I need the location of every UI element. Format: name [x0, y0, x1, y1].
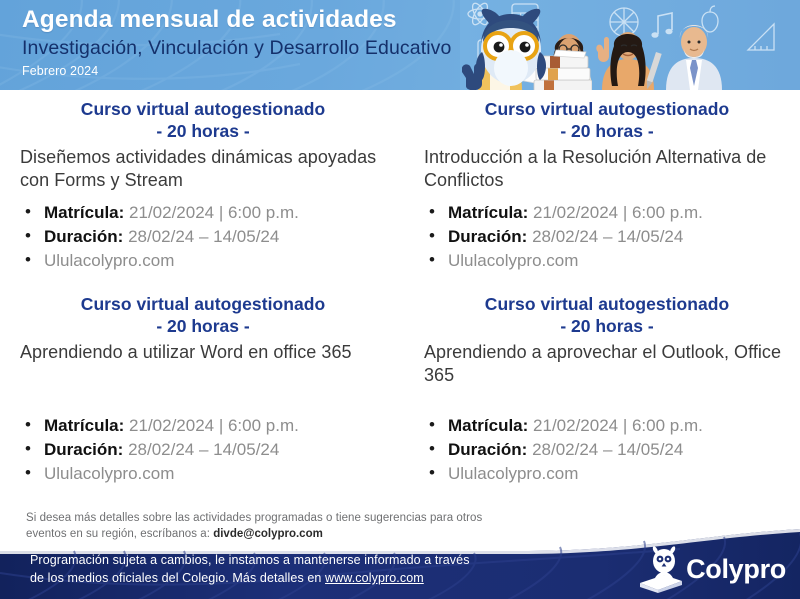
- detail-label: Matrícula:: [448, 416, 528, 435]
- course-site-link[interactable]: Ululacolypro.com: [448, 251, 578, 270]
- footer-line-1: Programación sujeta a cambios, le instam…: [30, 553, 470, 567]
- course-heading: Curso virtual autogestionado: [412, 98, 800, 120]
- course-hours: - 20 horas -: [412, 120, 800, 142]
- footer-message: Programación sujeta a cambios, le instam…: [30, 551, 590, 587]
- page-subtitle: Investigación, Vinculación y Desarrollo …: [22, 35, 451, 62]
- detail-value: 21/02/2024 | 6:00 p.m.: [533, 416, 703, 435]
- course-description: Introducción a la Resolución Alternativa…: [412, 146, 800, 191]
- page-date: Febrero 2024: [22, 62, 451, 81]
- course-site-link[interactable]: Ululacolypro.com: [44, 464, 174, 483]
- page-title: Agenda mensual de actividades: [22, 5, 451, 35]
- course-card: Curso virtual autogestionado - 20 horas …: [412, 98, 800, 273]
- course-hours: - 20 horas -: [8, 315, 398, 337]
- course-heading: Curso virtual autogestionado: [8, 98, 398, 120]
- detail-label: Matrícula:: [44, 416, 124, 435]
- detail-value: 28/02/24 – 14/05/24: [128, 227, 279, 246]
- course-grid: Curso virtual autogestionado - 20 horas …: [0, 90, 800, 500]
- list-item: Duración: 28/02/24 – 14/05/24: [426, 225, 800, 249]
- course-card: Curso virtual autogestionado - 20 horas …: [8, 98, 398, 273]
- brand-name: Colypro: [686, 554, 786, 584]
- list-item[interactable]: Ululacolypro.com: [426, 249, 800, 273]
- list-item: Duración: 28/02/24 – 14/05/24: [22, 438, 398, 462]
- slide-canvas: Agenda mensual de actividades Investigac…: [0, 0, 800, 599]
- course-heading: Curso virtual autogestionado: [412, 293, 800, 315]
- course-site-link[interactable]: Ululacolypro.com: [448, 464, 578, 483]
- list-item: Matrícula: 21/02/2024 | 6:00 p.m.: [22, 201, 398, 225]
- detail-value: 28/02/24 – 14/05/24: [532, 227, 683, 246]
- brand-logo: Colypro: [638, 545, 786, 593]
- detail-label: Matrícula:: [448, 203, 528, 222]
- course-detail-list: Matrícula: 21/02/2024 | 6:00 p.m. Duraci…: [412, 414, 800, 486]
- course-heading: Curso virtual autogestionado: [8, 293, 398, 315]
- detail-label: Duración:: [448, 227, 527, 246]
- list-item[interactable]: Ululacolypro.com: [22, 462, 398, 486]
- course-hours: - 20 horas -: [412, 315, 800, 337]
- contact-note: Si desea más detalles sobre las activida…: [26, 510, 586, 542]
- course-detail-list: Matrícula: 21/02/2024 | 6:00 p.m. Duraci…: [8, 201, 398, 273]
- list-item: Duración: 28/02/24 – 14/05/24: [426, 438, 800, 462]
- course-hours: - 20 horas -: [8, 120, 398, 142]
- course-site-link[interactable]: Ululacolypro.com: [44, 251, 174, 270]
- course-card: Curso virtual autogestionado - 20 horas …: [8, 293, 398, 486]
- owl-on-book-logo-icon: [638, 545, 684, 593]
- footer-line-2-prefix: de los medios oficiales del Colegio. Más…: [30, 571, 321, 585]
- list-item[interactable]: Ululacolypro.com: [426, 462, 800, 486]
- detail-label: Duración:: [448, 440, 527, 459]
- note-line-1: Si desea más detalles sobre las activida…: [26, 512, 482, 524]
- list-item[interactable]: Ululacolypro.com: [22, 249, 398, 273]
- list-item: Duración: 28/02/24 – 14/05/24: [22, 225, 398, 249]
- course-description: Diseñemos actividades dinámicas apoyadas…: [8, 146, 398, 191]
- contact-email[interactable]: divde@colypro.com: [213, 528, 323, 540]
- detail-value: 21/02/2024 | 6:00 p.m.: [533, 203, 703, 222]
- course-detail-list: Matrícula: 21/02/2024 | 6:00 p.m. Duraci…: [8, 414, 398, 486]
- note-line-2-prefix: eventos en su región, escríbanos a:: [26, 528, 210, 540]
- list-item: Matrícula: 21/02/2024 | 6:00 p.m.: [426, 414, 800, 438]
- list-item: Matrícula: 21/02/2024 | 6:00 p.m.: [22, 414, 398, 438]
- detail-value: 21/02/2024 | 6:00 p.m.: [129, 416, 299, 435]
- detail-value: 28/02/24 – 14/05/24: [128, 440, 279, 459]
- list-item: Matrícula: 21/02/2024 | 6:00 p.m.: [426, 201, 800, 225]
- detail-label: Matrícula:: [44, 203, 124, 222]
- detail-label: Duración:: [44, 440, 123, 459]
- owl-mascot-icon: [462, 0, 592, 90]
- detail-label: Duración:: [44, 227, 123, 246]
- detail-value: 28/02/24 – 14/05/24: [532, 440, 683, 459]
- header-text-group: Agenda mensual de actividades Investigac…: [22, 5, 451, 81]
- course-description: Aprendiendo a utilizar Word en office 36…: [8, 341, 398, 386]
- course-description: Aprendiendo a aprovechar el Outlook, Off…: [412, 341, 800, 386]
- course-detail-list: Matrícula: 21/02/2024 | 6:00 p.m. Duraci…: [412, 201, 800, 273]
- detail-value: 21/02/2024 | 6:00 p.m.: [129, 203, 299, 222]
- header-banner: Agenda mensual de actividades Investigac…: [0, 0, 800, 90]
- course-card: Curso virtual autogestionado - 20 horas …: [412, 293, 800, 486]
- footer-website-link[interactable]: www.colypro.com: [325, 571, 424, 585]
